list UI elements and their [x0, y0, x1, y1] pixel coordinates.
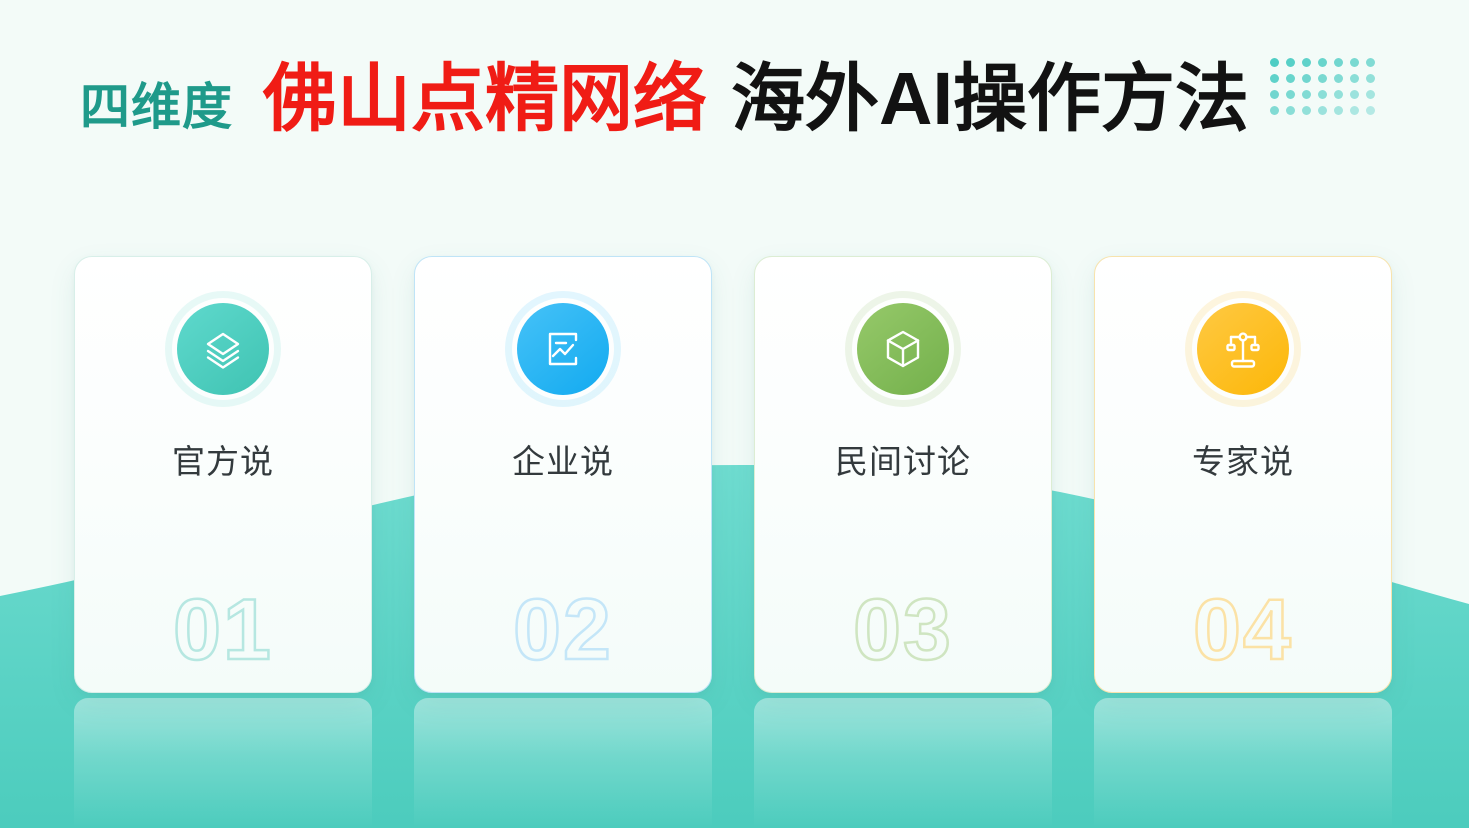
icon-wrap	[845, 291, 961, 407]
card-enterprise[interactable]: 企业说 02	[414, 256, 712, 693]
card-number: 03	[755, 587, 1051, 673]
card-number: 01	[75, 587, 371, 673]
card-official[interactable]: 官方说 01	[74, 256, 372, 693]
card-label: 民间讨论	[755, 435, 1051, 483]
icon-wrap	[165, 291, 281, 407]
icon-wrap	[1185, 291, 1301, 407]
card-expert[interactable]: 专家说 04	[1094, 256, 1392, 693]
card-row: 官方说 01 企业说 02	[0, 0, 1469, 828]
report-chart-icon	[540, 326, 586, 372]
layers-icon	[200, 326, 246, 372]
icon-circle	[857, 303, 949, 395]
balance-scale-icon	[1220, 326, 1266, 372]
card-label: 专家说	[1095, 435, 1391, 483]
slide-canvas: 四维度 佛山点精网络 海外AI操作方法	[0, 0, 1469, 828]
card-label: 企业说	[415, 435, 711, 483]
card-public-discussion[interactable]: 民间讨论 03	[754, 256, 1052, 693]
card-label: 官方说	[75, 435, 371, 483]
icon-circle	[1197, 303, 1289, 395]
cube-icon	[880, 326, 926, 372]
card-number: 02	[415, 587, 711, 673]
icon-circle	[177, 303, 269, 395]
card-number: 04	[1095, 587, 1391, 673]
icon-wrap	[505, 291, 621, 407]
icon-circle	[517, 303, 609, 395]
